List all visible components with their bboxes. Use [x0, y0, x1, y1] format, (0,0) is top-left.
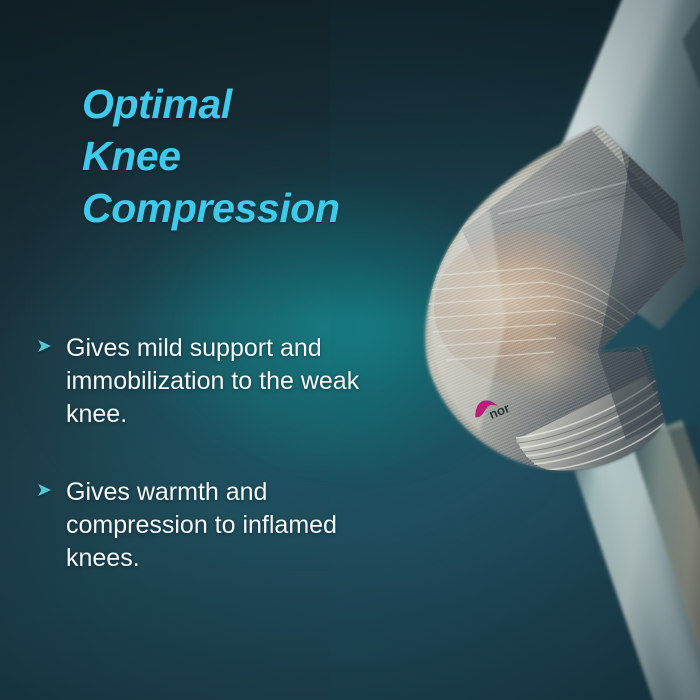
list-item: ➤ Gives mild support and immobilization … — [36, 332, 416, 430]
arrow-bullet-icon: ➤ — [36, 337, 66, 356]
product-marketing-banner: nor Optimal Knee Compression ➤ Gives mil… — [0, 0, 700, 700]
benefit-text: Gives mild support and immobilization to… — [66, 332, 416, 430]
page-title-line-3: Compression — [82, 183, 412, 235]
page-title-line-1: Optimal — [82, 79, 412, 131]
page-title-line-2: Knee — [82, 131, 412, 183]
list-item: ➤ Gives warmth and compression to inflam… — [36, 476, 416, 574]
benefit-text: Gives warmth and compression to inflamed… — [66, 476, 416, 574]
benefits-list: ➤ Gives mild support and immobilization … — [36, 332, 416, 575]
arrow-bullet-icon: ➤ — [36, 481, 66, 500]
page-title: Optimal Knee Compression — [82, 79, 412, 234]
